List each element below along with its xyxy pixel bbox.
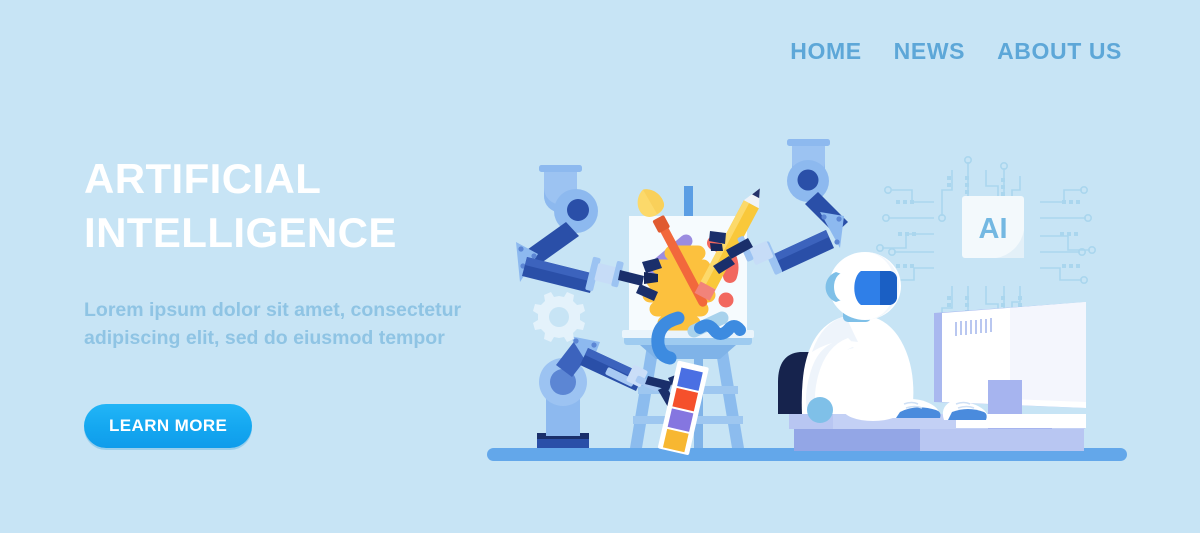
robot-arm-top-left [516,165,662,301]
paint-palette [658,360,709,455]
easel [622,186,754,448]
chair [778,352,816,414]
ai-chip-icon: AI [877,157,1095,349]
swatch-blue [677,367,703,390]
robot-character [802,252,988,423]
canvas-artwork [650,241,740,358]
nav-item-home[interactable]: HOME [790,40,861,63]
swatch-orange [672,388,698,411]
page-title: ARTIFICIAL INTELLIGENCE [84,152,504,260]
subcopy-line-2: adipiscing elit, sed do eiusmod tempor [84,324,504,352]
chip-ai-label: AI [979,213,1008,245]
monitor [934,302,1086,429]
headline-line-1: ARTIFICIAL [84,152,504,206]
headline-line-2: INTELLIGENCE [84,206,504,260]
paint-brush [632,184,716,312]
swatch-purple [668,408,694,431]
subcopy-line-1: Lorem ipsum dolor sit amet, consectetur [84,296,504,324]
hero-subcopy: Lorem ipsum dolor sit amet, consectetur … [84,296,504,353]
floor-line [487,448,1127,461]
nav-item-about-us[interactable]: ABOUT US [997,40,1122,63]
hero-banner: AI [0,0,1200,533]
robot-arm-top-right [709,139,848,275]
hero-copy-block: ARTIFICIAL INTELLIGENCE Lorem ipsum dolo… [84,152,504,448]
robot-arm-bottom-left [537,336,692,448]
main-navigation: HOME NEWS ABOUT US [790,40,1122,63]
swatch-yellow [663,429,689,452]
learn-more-button[interactable]: LEARN MORE [84,404,252,448]
pencil [695,184,768,301]
nav-item-news[interactable]: NEWS [894,40,965,63]
desk [789,414,1085,451]
gear-icon [528,288,590,346]
